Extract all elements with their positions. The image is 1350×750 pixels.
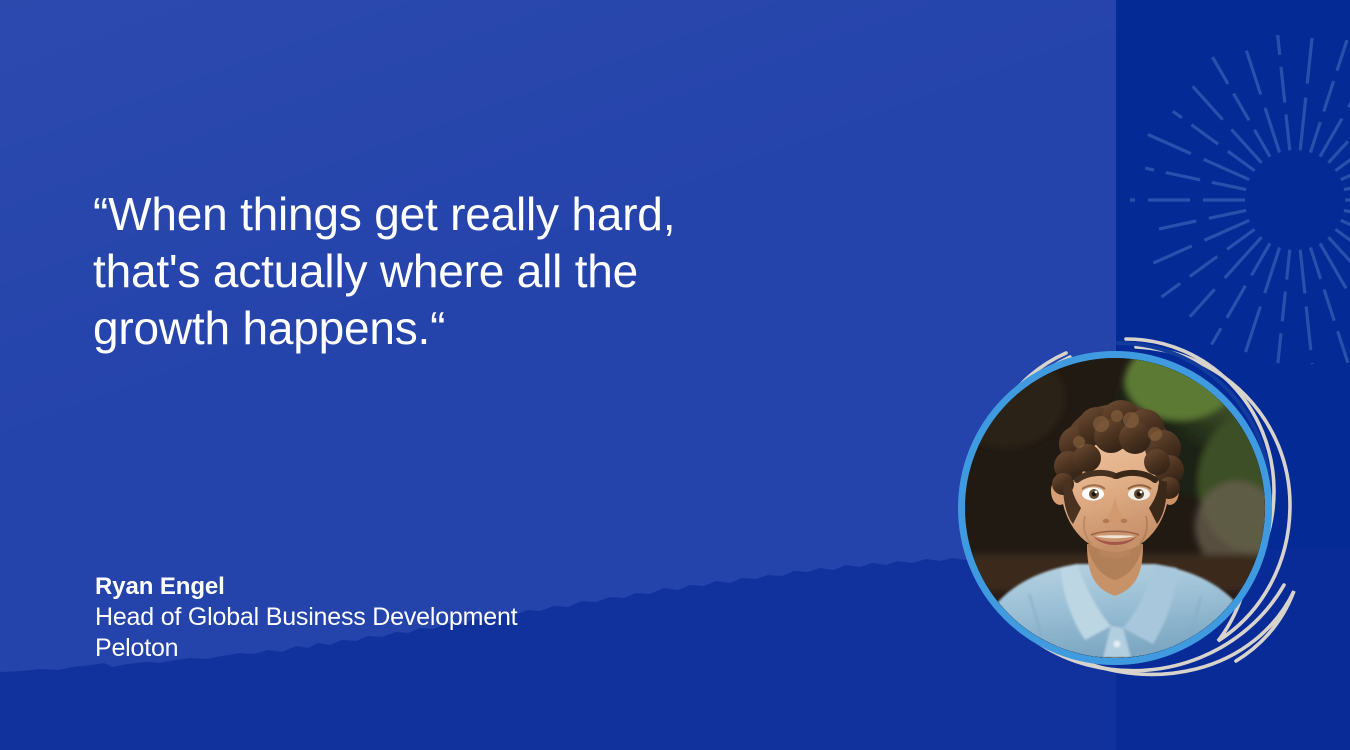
quote-card: “When things get really hard, that's act… xyxy=(0,0,1350,750)
quote-text: “When things get really hard, that's act… xyxy=(93,186,753,357)
avatar-photo xyxy=(965,358,1265,658)
attribution-role: Head of Global Business Development xyxy=(95,602,517,633)
attribution-name: Ryan Engel xyxy=(95,572,517,602)
portrait-illustration xyxy=(965,358,1265,658)
attribution-organization: Peloton xyxy=(95,633,517,664)
avatar xyxy=(958,351,1272,665)
attribution: Ryan Engel Head of Global Business Devel… xyxy=(95,572,517,664)
portrait-cluster xyxy=(940,333,1320,698)
